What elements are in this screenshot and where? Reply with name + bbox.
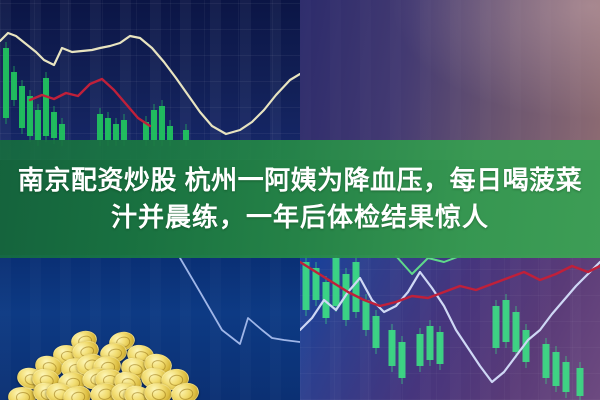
- bottom-right-chart-panel: [300, 255, 600, 400]
- headline-banner: 南京配资炒股 杭州一阿姨为降血压，每日喝菠菜 汁并晨练，一年后体检结果惊人: [0, 140, 600, 258]
- candlestick-wick: [401, 336, 402, 384]
- candlestick-wick: [13, 66, 14, 106]
- headline-line-2: 汁并晨练，一年后体检结果惊人: [111, 199, 489, 236]
- gold-coin: [8, 387, 36, 400]
- candlestick-wick: [555, 346, 556, 392]
- candlestick-wick: [439, 326, 440, 370]
- candlestick-wick: [505, 294, 506, 348]
- candlestick-wick: [45, 72, 46, 142]
- candlestick-wick: [391, 324, 392, 372]
- top-left-chart-panel: [0, 0, 300, 160]
- candlestick-wick: [375, 310, 376, 354]
- candlestick-wick: [53, 106, 54, 144]
- candlestick-wick: [495, 300, 496, 354]
- candlestick-wick: [315, 262, 316, 306]
- headline-line-1: 南京配资炒股 杭州一阿姨为降血压，每日喝菠菜: [18, 162, 582, 199]
- candlestick-wick: [429, 320, 430, 366]
- column-stripes-decor: [300, 0, 600, 160]
- bottom-right-chart-svg: [300, 255, 600, 400]
- candlestick-wick: [21, 80, 22, 134]
- candlestick-wick: [545, 338, 546, 384]
- candlestick-wick: [355, 256, 356, 318]
- candlestick-wick: [579, 362, 580, 400]
- candlestick-wick: [525, 324, 526, 368]
- stock-news-thumbnail: 南京配资炒股 杭州一阿姨为降血压，每日喝菠菜 汁并晨练，一年后体检结果惊人: [0, 0, 600, 400]
- gold-coin-pile: [8, 330, 193, 400]
- candlestick-wick: [5, 42, 6, 124]
- candlestick-wick: [515, 306, 516, 358]
- top-right-gradient-panel: [300, 0, 600, 160]
- descending-line: [180, 258, 300, 344]
- candlestick-wick: [29, 90, 30, 142]
- candlestick-wick: [565, 356, 566, 398]
- candlestick-wick: [419, 328, 420, 372]
- green-v-line: [396, 256, 460, 274]
- top-left-chart-svg: [0, 0, 300, 160]
